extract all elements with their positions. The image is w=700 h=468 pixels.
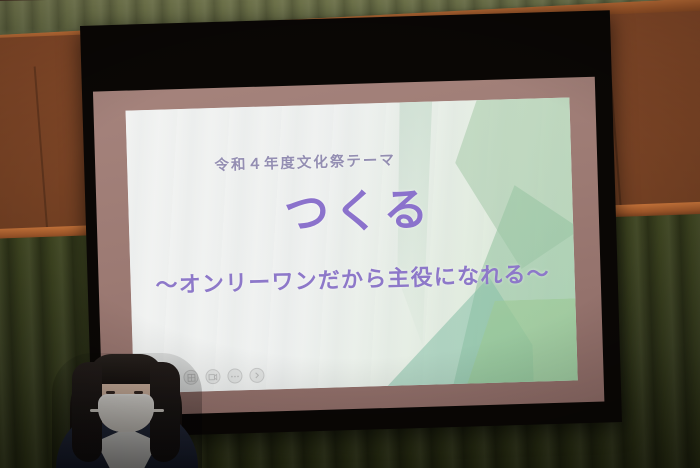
screenshot-stage: 令和４年度文化祭テーマ つくる 〜オンリーワンだから主役になれる〜 [0,0,700,468]
slide-text-block: 令和４年度文化祭テーマ つくる 〜オンリーワンだから主役になれる〜 [126,97,578,393]
theme-subtitle: 〜オンリーワンだから主役になれる〜 [130,255,575,300]
hair-side-right [150,362,180,462]
presentation-slide[interactable]: 令和４年度文化祭テーマ つくる 〜オンリーワンだから主役になれる〜 [126,97,578,393]
more-options-icon[interactable] [227,368,242,383]
zoom-in-icon[interactable] [205,369,220,384]
theme-title: つくる [136,181,578,241]
theme-label: 令和４年度文化祭テーマ [126,145,528,179]
next-slide-icon[interactable] [249,368,264,383]
student-presenter [52,353,202,468]
